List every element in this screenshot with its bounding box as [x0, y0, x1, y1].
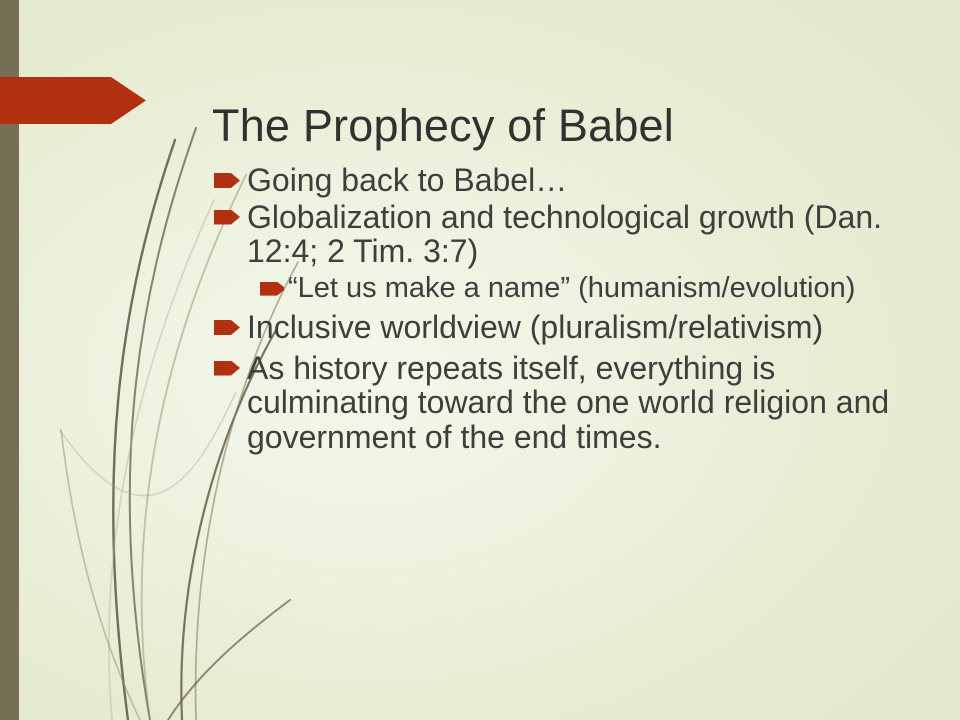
- list-item-text: Inclusive worldview (pluralism/relativis…: [247, 310, 930, 345]
- presentation-slide: The Prophecy of Babel Going back to Babe…: [0, 0, 960, 720]
- arrow-bullet-icon: [214, 173, 240, 188]
- sub-list-item: “Let us make a name” (humanism/evolution…: [260, 273, 930, 304]
- slide-title: The Prophecy of Babel: [212, 100, 932, 152]
- list-item: As history repeats itself, everything is…: [214, 351, 930, 455]
- list-item-text: Globalization and technological growth (…: [247, 200, 930, 269]
- list-item: Going back to Babel…: [214, 163, 930, 198]
- list-item-text: Going back to Babel…: [247, 163, 930, 198]
- list-item: Globalization and technological growth (…: [214, 200, 930, 269]
- arrow-bullet-icon: [214, 210, 240, 225]
- sub-list-item-text: “Let us make a name” (humanism/evolution…: [288, 273, 930, 304]
- title-arrow-accent: [0, 77, 146, 124]
- bullet-list: Going back to Babel… Globalization and t…: [214, 163, 930, 456]
- list-item: Inclusive worldview (pluralism/relativis…: [214, 310, 930, 345]
- arrow-bullet-icon: [214, 361, 240, 376]
- arrow-bullet-icon: [214, 320, 240, 335]
- arrow-bullet-icon: [260, 282, 284, 296]
- list-item-text: As history repeats itself, everything is…: [247, 351, 930, 455]
